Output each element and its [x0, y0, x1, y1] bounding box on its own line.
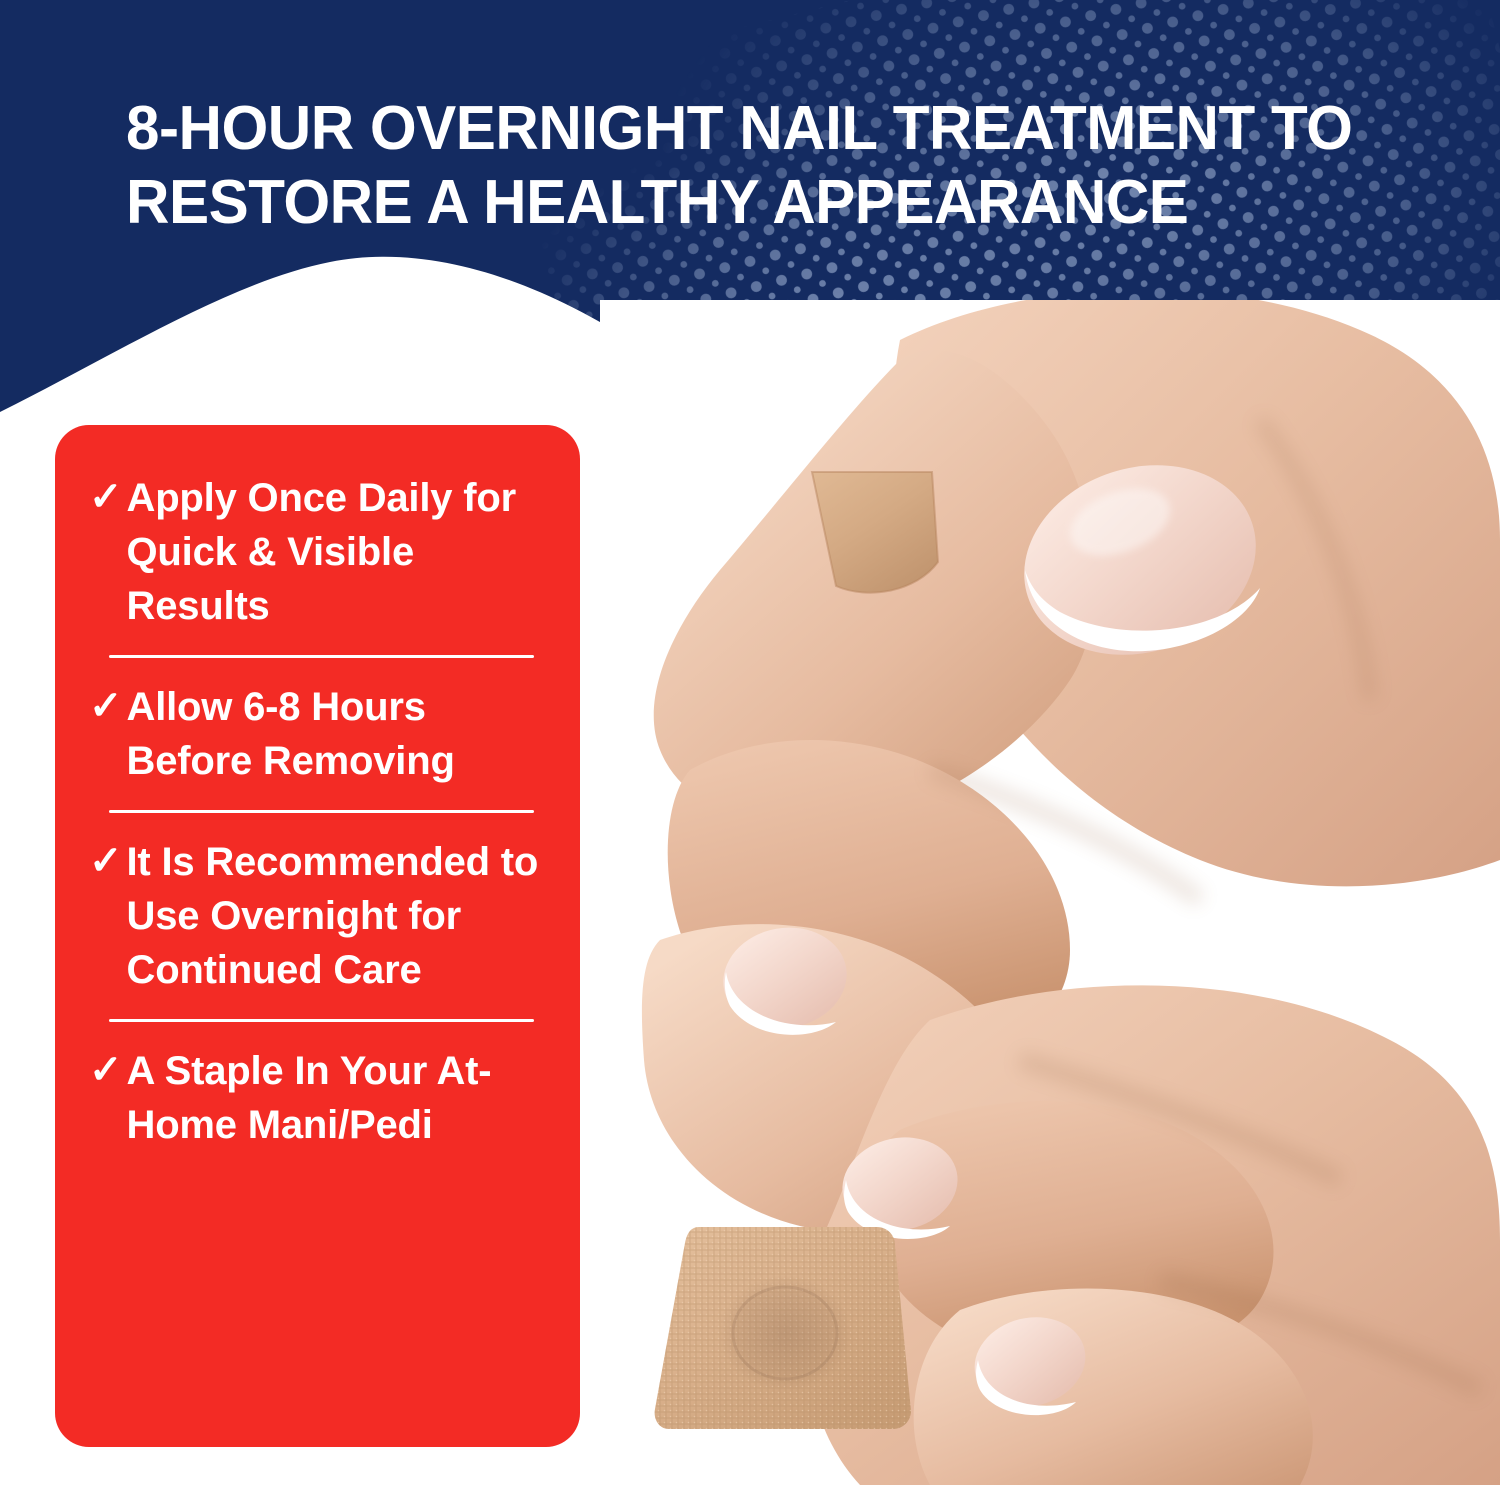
page-title: 8-HOUR OVERNIGHT NAIL TREATMENT TO RESTO… [126, 92, 1271, 240]
benefit-item-1: ✓ Apply Once Daily for Quick & Visible R… [89, 471, 540, 633]
benefit-item-1-label: Apply Once Daily for Quick & Visible Res… [127, 471, 540, 633]
benefit-item-2: ✓ Allow 6-8 Hours Before Removing [89, 680, 540, 788]
check-icon: ✓ [89, 471, 123, 523]
check-icon: ✓ [89, 680, 123, 732]
benefit-item-4-label: A Staple In Your At-Home Mani/Pedi [127, 1044, 540, 1152]
benefit-divider-3 [109, 1019, 534, 1022]
check-icon: ✓ [89, 1044, 123, 1096]
benefits-card: ✓ Apply Once Daily for Quick & Visible R… [55, 425, 580, 1447]
headline-line-1: 8-HOUR OVERNIGHT NAIL TREATMENT TO [126, 92, 1271, 166]
nail-patch-product-shot [645, 1205, 935, 1453]
check-icon: ✓ [89, 835, 123, 887]
benefit-item-4: ✓ A Staple In Your At-Home Mani/Pedi [89, 1044, 540, 1152]
headline-line-2: RESTORE A HEALTHY APPEARANCE [126, 166, 1271, 240]
patch-trapezoid [645, 1205, 935, 1453]
benefit-divider-1 [109, 655, 534, 658]
product-infographic: 8-HOUR OVERNIGHT NAIL TREATMENT TO RESTO… [0, 0, 1500, 1485]
benefit-item-3-label: It Is Recommended to Use Overnight for C… [127, 835, 540, 997]
benefit-divider-2 [109, 810, 534, 813]
benefit-item-2-label: Allow 6-8 Hours Before Removing [127, 680, 540, 788]
patch-center-imprint [719, 1275, 851, 1391]
benefit-item-3: ✓ It Is Recommended to Use Overnight for… [89, 835, 540, 997]
